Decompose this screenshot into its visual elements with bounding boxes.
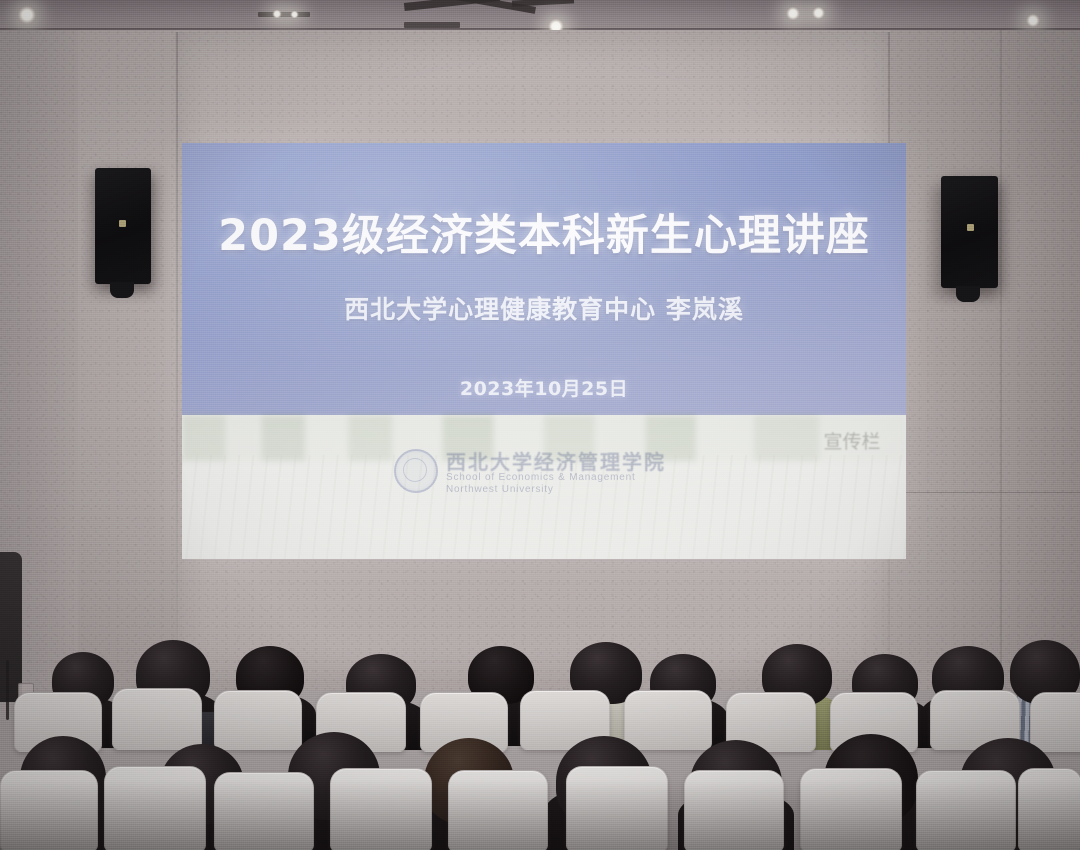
photo-background-characters: 宣传栏 [822, 431, 882, 521]
speaker-left-port [119, 220, 126, 227]
projected-slide: 2023级经济类本科新生心理讲座 西北大学心理健康教育中心 李岚溪 2023年1… [182, 143, 906, 559]
ceiling-spot-6 [812, 7, 825, 19]
seat [1018, 768, 1080, 850]
speaker-left-mount [110, 282, 134, 298]
seat [214, 690, 302, 750]
seat [0, 770, 98, 850]
seat [104, 766, 206, 850]
speaker-right [941, 176, 998, 288]
slide-subtitle: 西北大学心理健康教育中心 李岚溪 [182, 290, 906, 326]
speaker-left [95, 168, 151, 284]
speaker-right-mount [956, 286, 980, 302]
slide-title: 2023级经济类本科新生心理讲座 [182, 201, 906, 263]
seat [330, 768, 432, 850]
slide-date: 2023年10月25日 [182, 374, 906, 401]
school-logo: 西北大学经济管理学院 School of Economics & Managem… [394, 446, 702, 498]
school-logo-en2: Northwest University [446, 484, 554, 495]
ceiling-spot-1 [18, 6, 36, 24]
seat [624, 690, 712, 750]
seat [214, 772, 314, 850]
audience-area [0, 640, 1080, 850]
ceiling-vent-left [258, 12, 310, 17]
seat [800, 768, 902, 850]
ceiling-vent-mid [404, 22, 460, 28]
seat [448, 770, 548, 850]
seat [112, 688, 202, 750]
ceiling-spot-7 [1026, 14, 1040, 27]
ceiling-spot-5 [786, 7, 800, 20]
speaker-right-port [967, 224, 974, 231]
ceiling-spot-3 [290, 11, 299, 18]
seat [566, 766, 668, 850]
school-logo-en1: School of Economics & Management [446, 472, 636, 483]
seat [916, 770, 1016, 850]
lecture-hall-photo: 2023级经济类本科新生心理讲座 西北大学心理健康教育中心 李岚溪 2023年1… [0, 0, 1080, 850]
school-logo-cn: 西北大学经济管理学院 [446, 446, 666, 475]
seat [684, 770, 784, 850]
ceiling-spot-2 [272, 10, 282, 18]
seat [1030, 692, 1080, 752]
university-seal-icon [394, 449, 438, 493]
